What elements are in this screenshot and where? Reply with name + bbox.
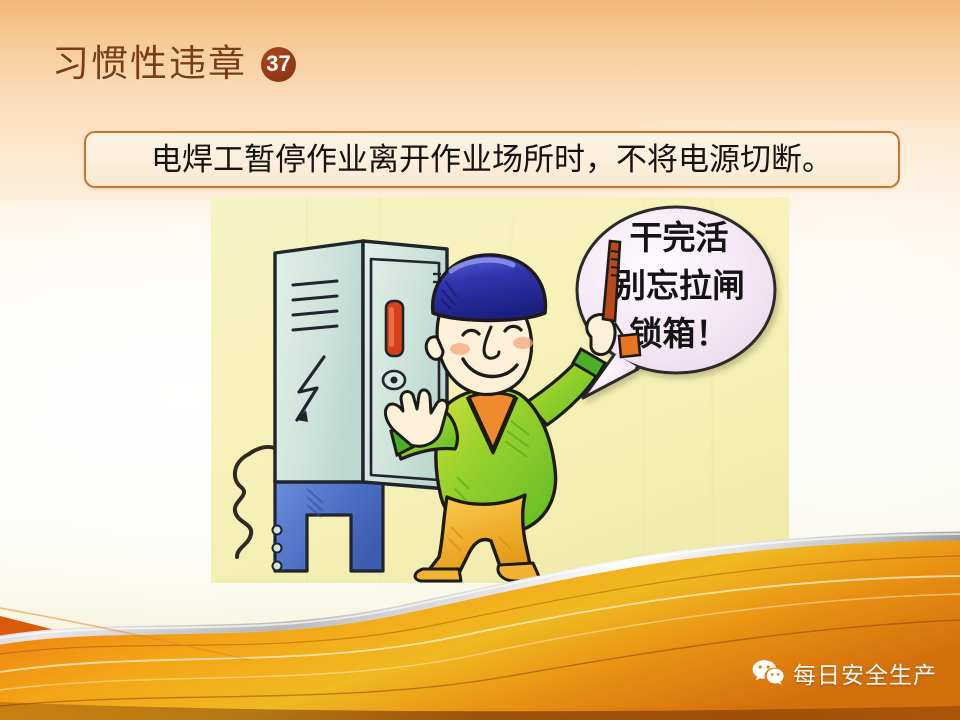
ground-shadow (541, 565, 789, 583)
wave-dark-band (0, 702, 960, 720)
cabinet-lock (383, 371, 405, 389)
hanging-cable (235, 447, 277, 557)
bubble-line-2: 别忘拉闸 (613, 267, 745, 304)
bubble-line-1: 干完活 (630, 219, 729, 256)
wechat-account-label: 每日安全生产 (793, 664, 937, 687)
speech-bubble-text: 干完活 别忘拉闸 锁箱！ (613, 219, 745, 352)
cartoon-illustration: 干完活 别忘拉闸 锁箱！ (211, 197, 789, 583)
violation-statement-text: 电焊工暂停作业离开作业场所时，不将电源切断。 (151, 144, 833, 175)
violation-statement-box: 电焊工暂停作业离开作业场所时，不将电源切断。 (84, 131, 900, 188)
illustration-panel: 干完活 别忘拉闸 锁箱！ (211, 197, 789, 583)
safety-helmet (433, 255, 546, 321)
slide-title-row: 习惯性违章 37 (52, 46, 296, 83)
wechat-watermark: 每日安全生产 (752, 659, 937, 691)
bubble-line-3: 锁箱！ (630, 315, 729, 352)
cabinet-handle (386, 301, 403, 356)
slide-number-badge: 37 (261, 47, 296, 82)
page-title: 习惯性违章 (52, 46, 247, 83)
wave-thin-swoosh (0, 608, 250, 660)
cabinet-bolts (273, 526, 282, 571)
wechat-icon (752, 659, 784, 691)
slide-canvas: 习惯性违章 37 电焊工暂停作业离开作业场所时，不将电源切断。 (0, 0, 960, 720)
